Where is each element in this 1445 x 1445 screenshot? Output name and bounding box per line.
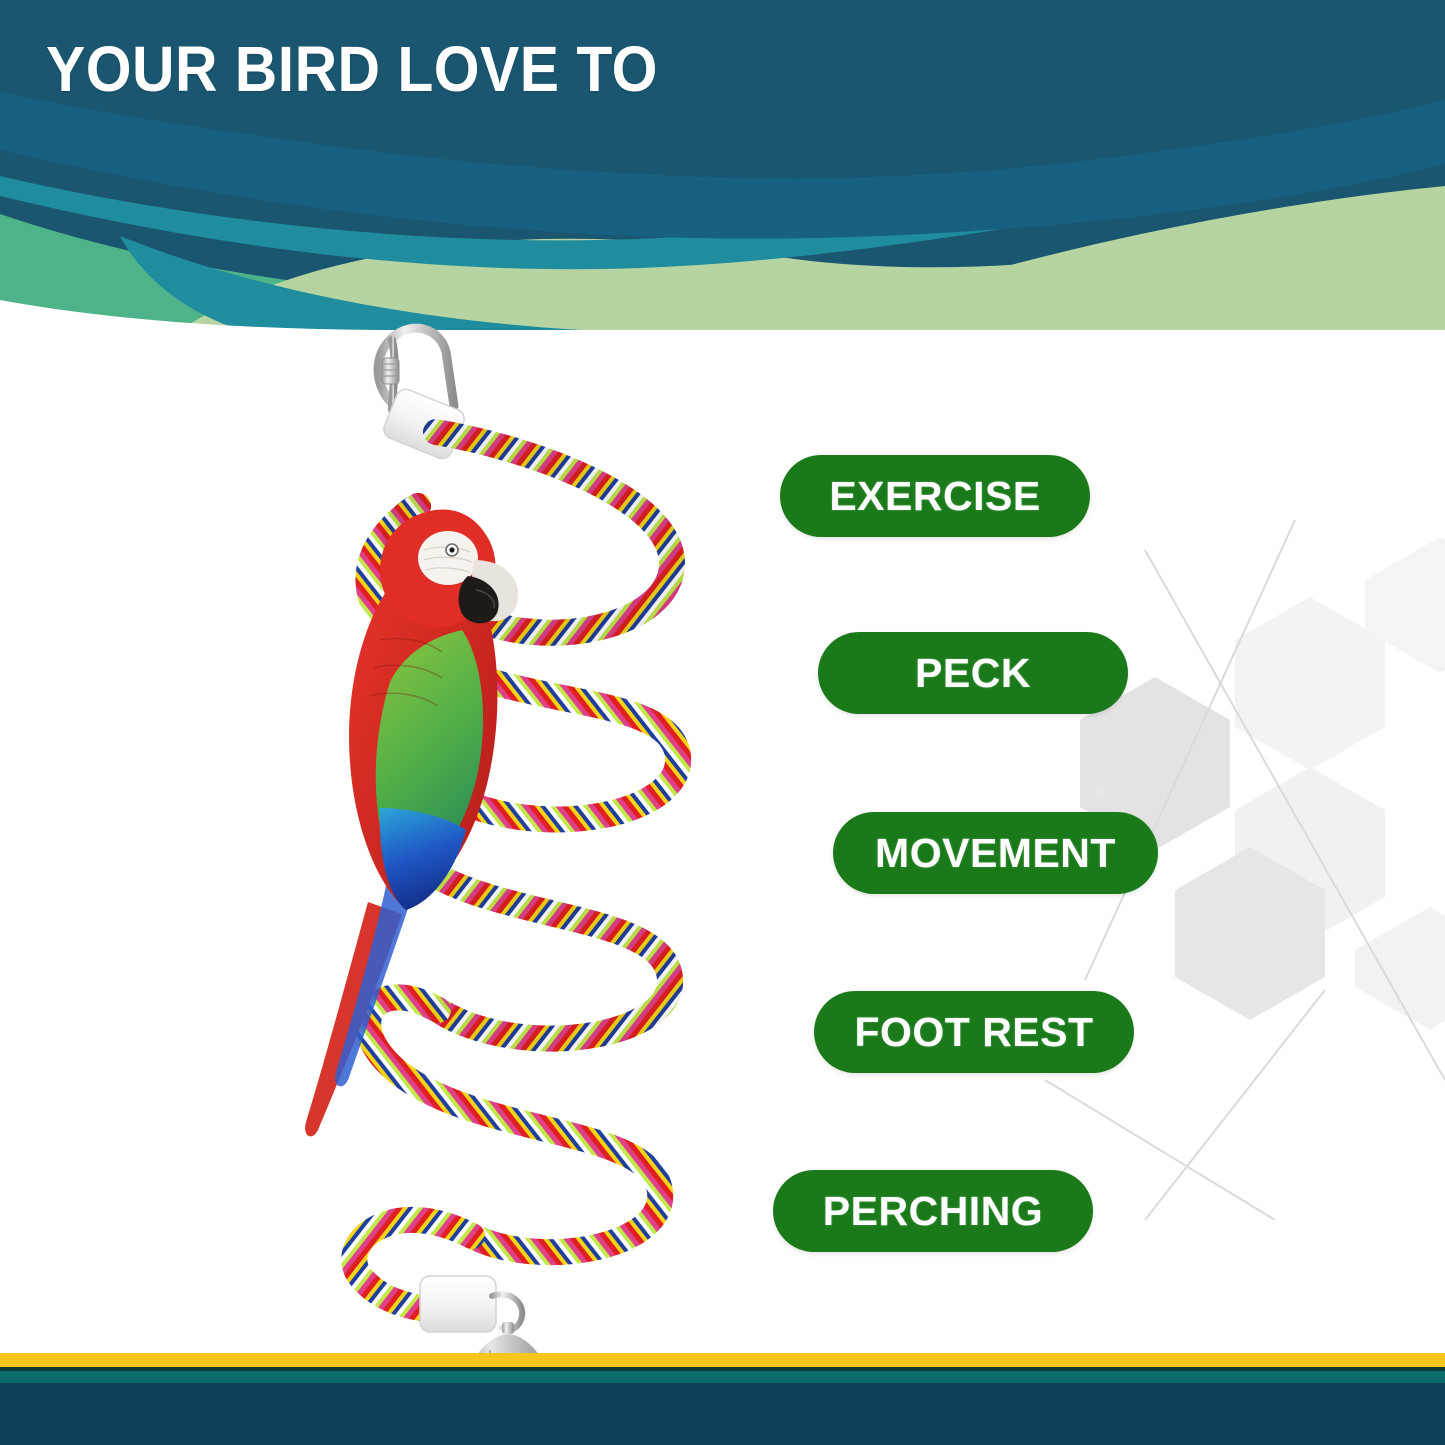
diagonal-line <box>1145 990 1325 1220</box>
badge-label: MOVEMENT <box>875 830 1116 877</box>
footer-gold-stripe <box>0 1353 1445 1367</box>
hexagon-icon <box>1235 767 1385 940</box>
diagonal-line <box>1085 520 1295 980</box>
header-banner: YOUR BIRD LOVE TO <box>0 0 1445 330</box>
hexagon-icon <box>1355 907 1445 1030</box>
badge-label: PECK <box>915 650 1031 697</box>
white-plastic-cap-bottom <box>420 1276 496 1332</box>
diagonal-line <box>1145 550 1445 1080</box>
badge-foot-rest[interactable]: FOOT REST <box>814 991 1134 1073</box>
badge-label: PERCHING <box>823 1188 1043 1235</box>
dot-marker <box>1095 787 1105 797</box>
footer-base-band <box>0 1383 1445 1445</box>
badge-movement[interactable]: MOVEMENT <box>833 812 1158 894</box>
hexagon-icon <box>1175 847 1325 1020</box>
badge-perching[interactable]: PERCHING <box>773 1170 1093 1252</box>
page-title: YOUR BIRD LOVE TO <box>46 36 658 103</box>
infographic-canvas: YOUR BIRD LOVE TO <box>0 0 1445 1445</box>
badge-label: EXERCISE <box>829 473 1040 520</box>
hexagon-icon <box>1365 537 1445 673</box>
hexagon-icon <box>1235 597 1385 770</box>
product-image <box>240 310 720 1360</box>
badge-peck[interactable]: PECK <box>818 632 1128 714</box>
footer-teal-stripe <box>0 1371 1445 1383</box>
badge-exercise[interactable]: EXERCISE <box>780 455 1090 537</box>
footer-bar <box>0 1353 1445 1445</box>
dot-marker <box>1261 946 1269 954</box>
badge-label: FOOT REST <box>854 1009 1093 1056</box>
